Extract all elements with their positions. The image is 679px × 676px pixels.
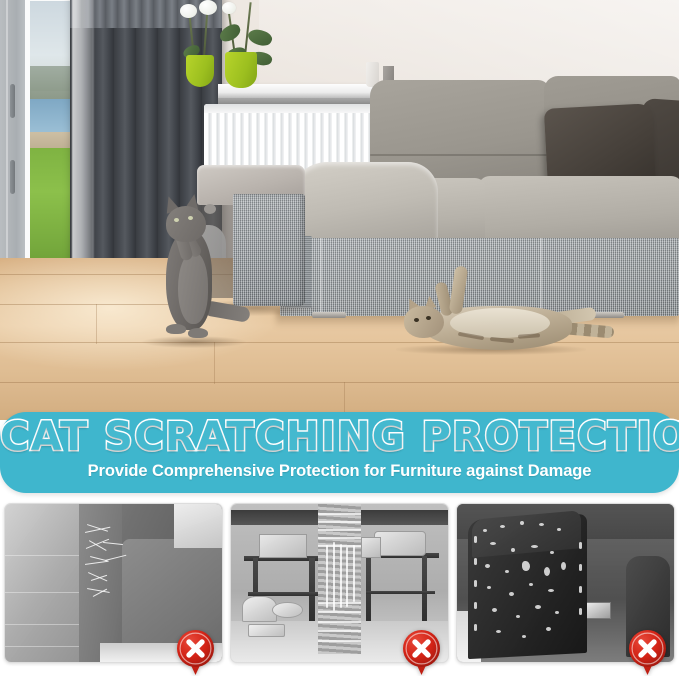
page-subtitle: Provide Comprehensive Protection for Fur… <box>0 462 679 481</box>
cat-gray-scratching <box>152 192 257 344</box>
damage-photo-card-sofa-corner <box>4 503 223 663</box>
damage-examples-row <box>0 498 679 676</box>
cat-gray-hindfoot-left <box>166 324 186 334</box>
red-x-badge <box>628 629 667 676</box>
cat-tabby-eye-right <box>426 316 431 320</box>
plant-pot-right <box>225 52 257 88</box>
hero-living-room-scene <box>0 0 679 420</box>
product-marketing-image: CAT SCRATCHING PROTECTION Provide Compre… <box>0 0 679 676</box>
red-x-badge <box>176 629 215 676</box>
cat-gray-paw-right <box>204 204 216 214</box>
cat-gray-chest <box>178 252 208 324</box>
sofa-chaise-arm <box>288 162 438 242</box>
door-handle-upper <box>10 84 15 118</box>
cat-gray-head <box>166 206 206 242</box>
water-view <box>30 99 72 134</box>
sofa-backrest-seam <box>370 154 550 156</box>
plant-pot-left <box>186 55 214 87</box>
cat-gray-eye-right <box>188 216 193 220</box>
cat-gray-eye-left <box>174 218 179 222</box>
cat-tabby-eye-left <box>414 318 419 322</box>
headline-banner: CAT SCRATCHING PROTECTION Provide Compre… <box>0 412 679 493</box>
cat-gray-hindfoot-right <box>188 328 208 338</box>
fray-cluster <box>85 520 133 612</box>
red-x-badge <box>402 629 441 676</box>
page-title: CAT SCRATCHING PROTECTION <box>0 415 679 459</box>
sheer-curtain <box>72 0 94 286</box>
door-handle-lower <box>10 160 15 194</box>
cat-tabby-head <box>404 306 444 338</box>
damage-photo-card-rope-column <box>230 503 449 663</box>
cat-tabby-on-back <box>398 272 618 354</box>
damage-photo-card-leather-chair <box>456 503 675 663</box>
lawn <box>30 148 72 273</box>
